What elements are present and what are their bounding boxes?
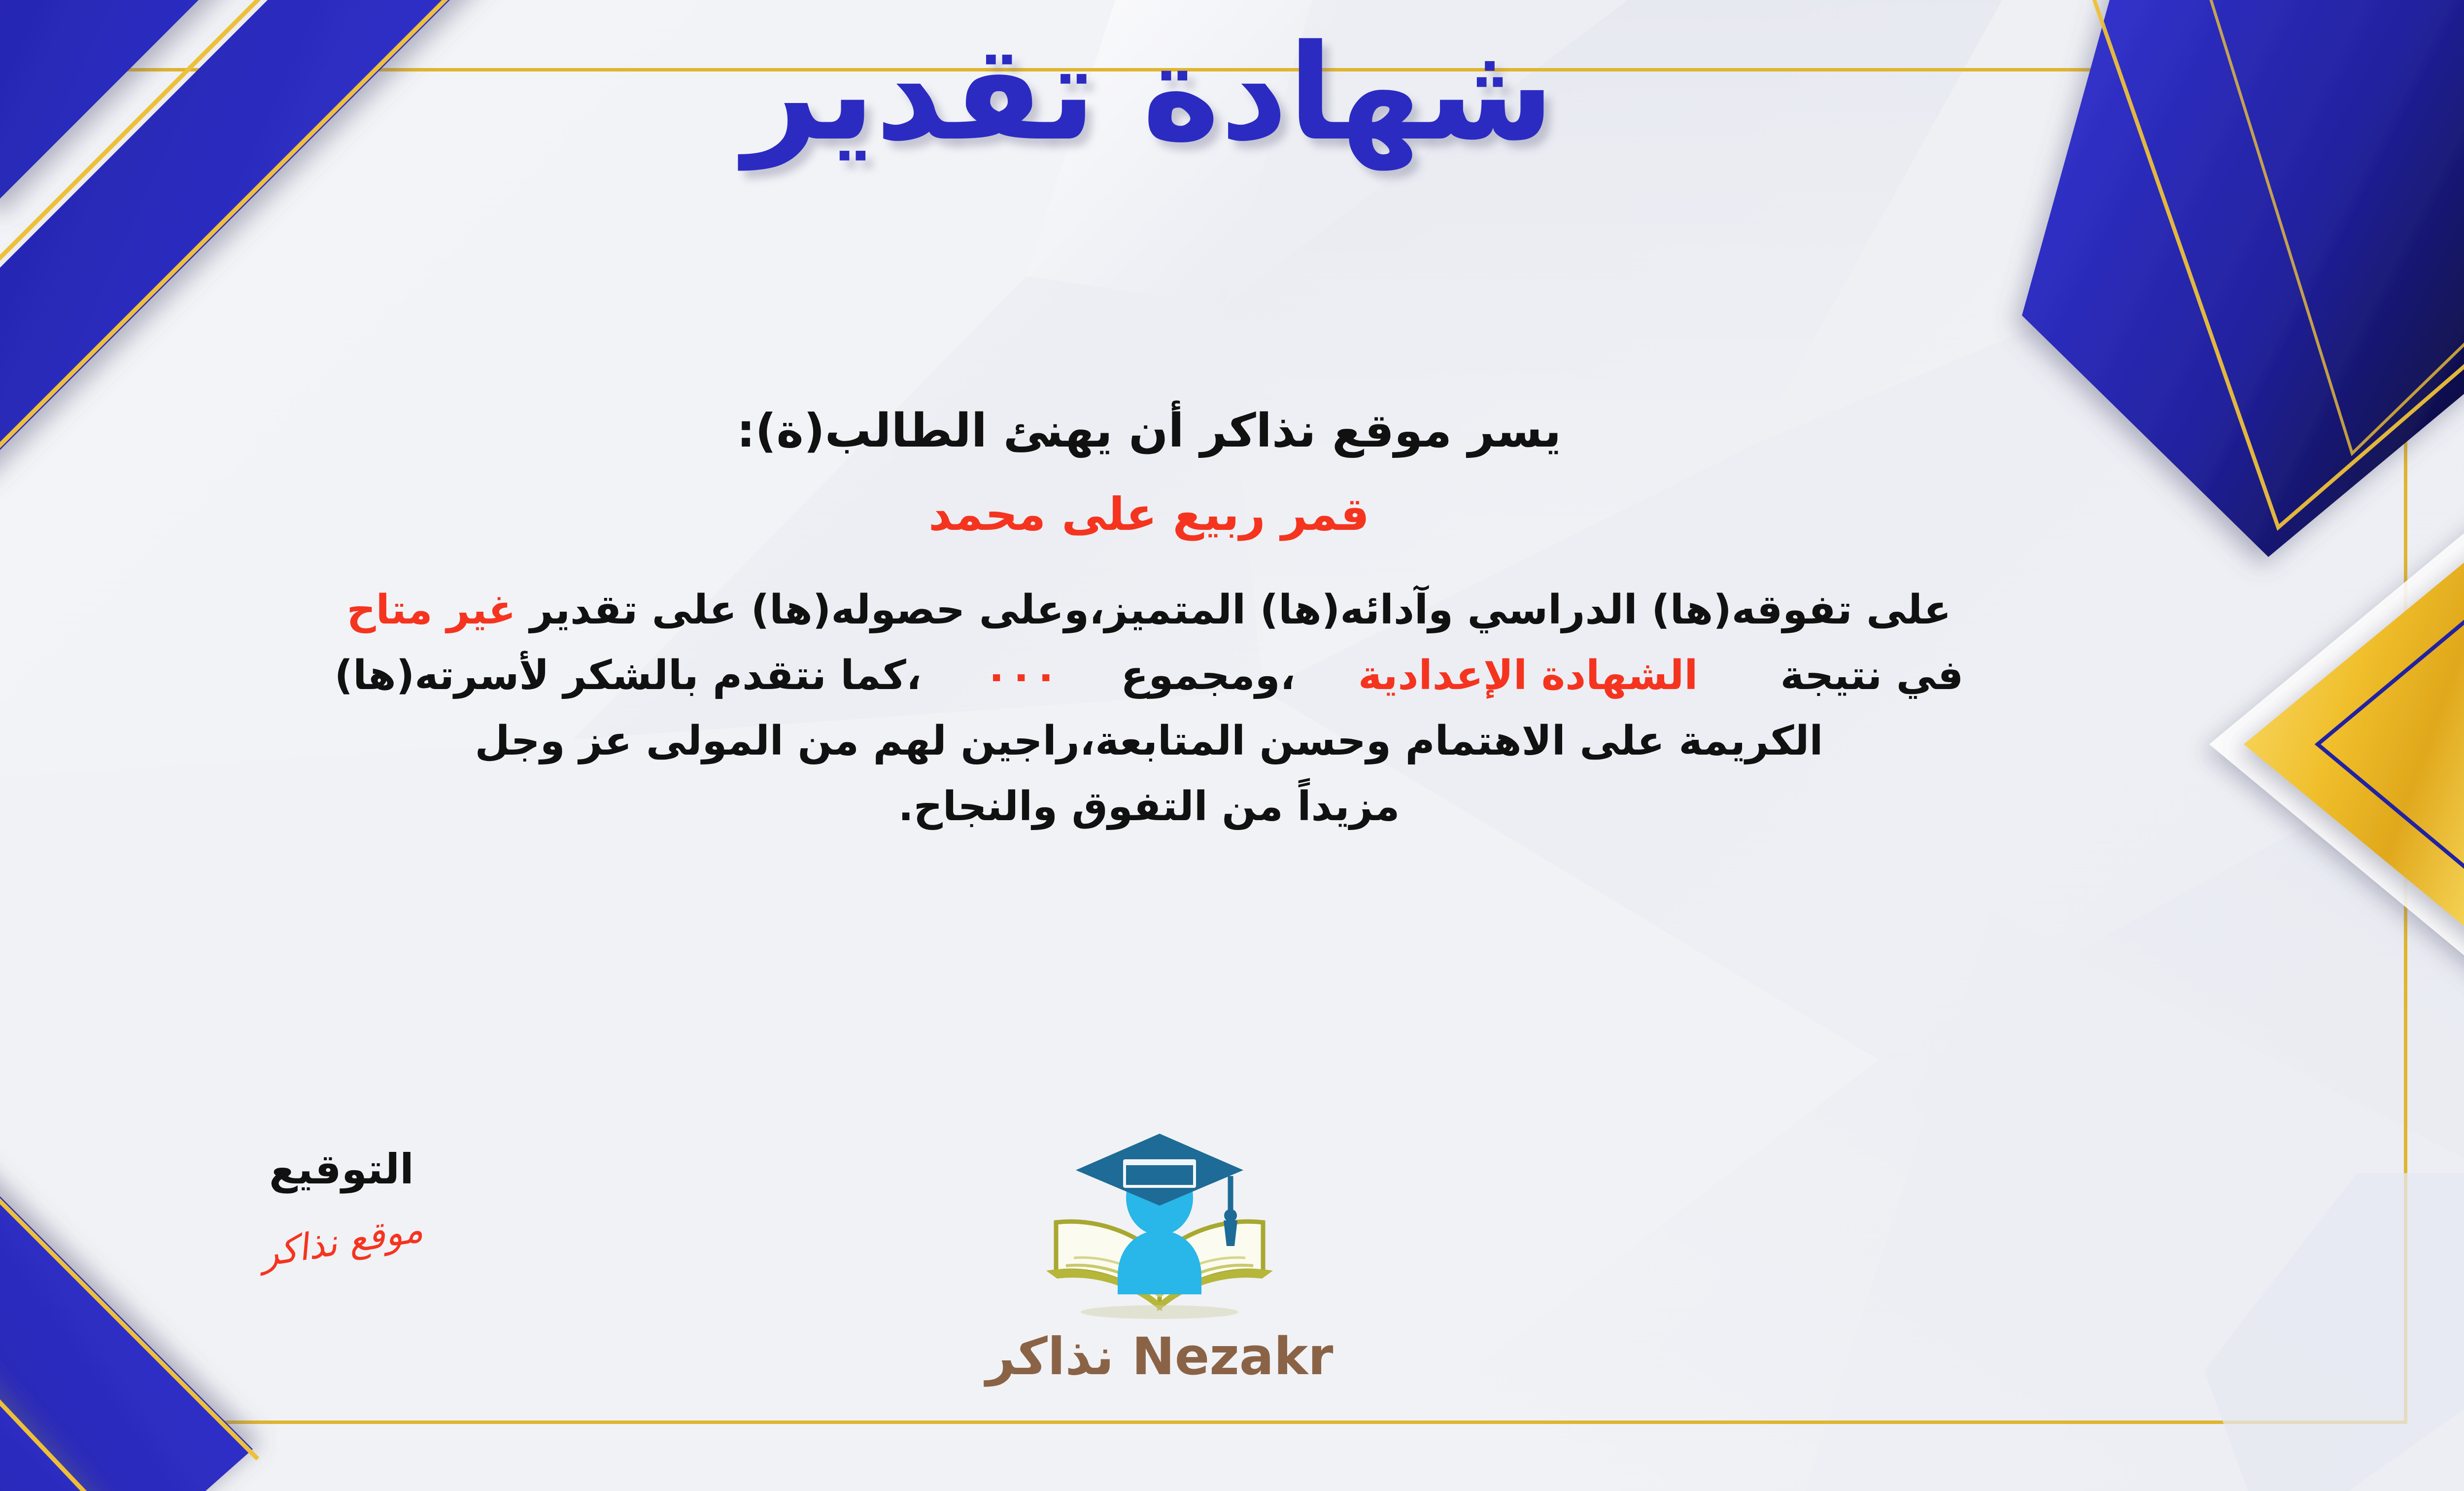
result-prefix: في نتيجة — [1780, 652, 1964, 699]
thanks-text: ،كما نتقدم بالشكر لأسرته(ها) — [335, 652, 922, 699]
paragraph-line-1: على تفوقه(ها) الدراسي وآدائه(ها) المتميز… — [0, 578, 2301, 643]
paragraph-line-4: مزيداً من التفوق والنجاح. — [0, 774, 2301, 840]
signature-block: التوقيع موقع نذاكر — [213, 1148, 470, 1263]
student-name: قمر ربيع على محمد — [0, 489, 2316, 539]
brand-logo: Nezakr نذاكر — [962, 1129, 1357, 1382]
certificate-title: شهادة تقدير — [0, 27, 2464, 159]
frame-border-bottom — [0, 1421, 2407, 1424]
certificate-body: يسر موقع نذاكر أن يهنئ الطالب(ة): قمر رب… — [0, 404, 2316, 839]
achievement-text: على تفوقه(ها) الدراسي وآدائه(ها) المتميز… — [530, 587, 1951, 633]
certificate-stage: الشهادة الإعدادية — [1358, 652, 1698, 699]
signature-label: التوقيع — [213, 1148, 470, 1190]
intro-line: يسر موقع نذاكر أن يهنئ الطالب(ة): — [0, 404, 2316, 459]
total-value: ٠٠٠ — [984, 652, 1058, 699]
paragraph-line-2: في نتيجة الشهادة الإعدادية ،ومجموع ٠٠٠ ،… — [0, 643, 2301, 709]
grade-value: غير متاح — [346, 587, 515, 633]
paragraph-line-3: الكريمة على الاهتمام وحسن المتابعة،راجين… — [0, 709, 2301, 774]
achievement-paragraph: على تفوقه(ها) الدراسي وآدائه(ها) المتميز… — [0, 578, 2316, 839]
frame-border-right — [2404, 68, 2407, 1424]
logo-wordmark: Nezakr نذاكر — [962, 1331, 1357, 1382]
certificate-canvas: شهادة تقدير يسر موقع نذاكر أن يهنئ الطال… — [0, 0, 2464, 1491]
logo-artwork — [1027, 1129, 1293, 1336]
total-label: ،ومجموع — [1121, 652, 1295, 699]
